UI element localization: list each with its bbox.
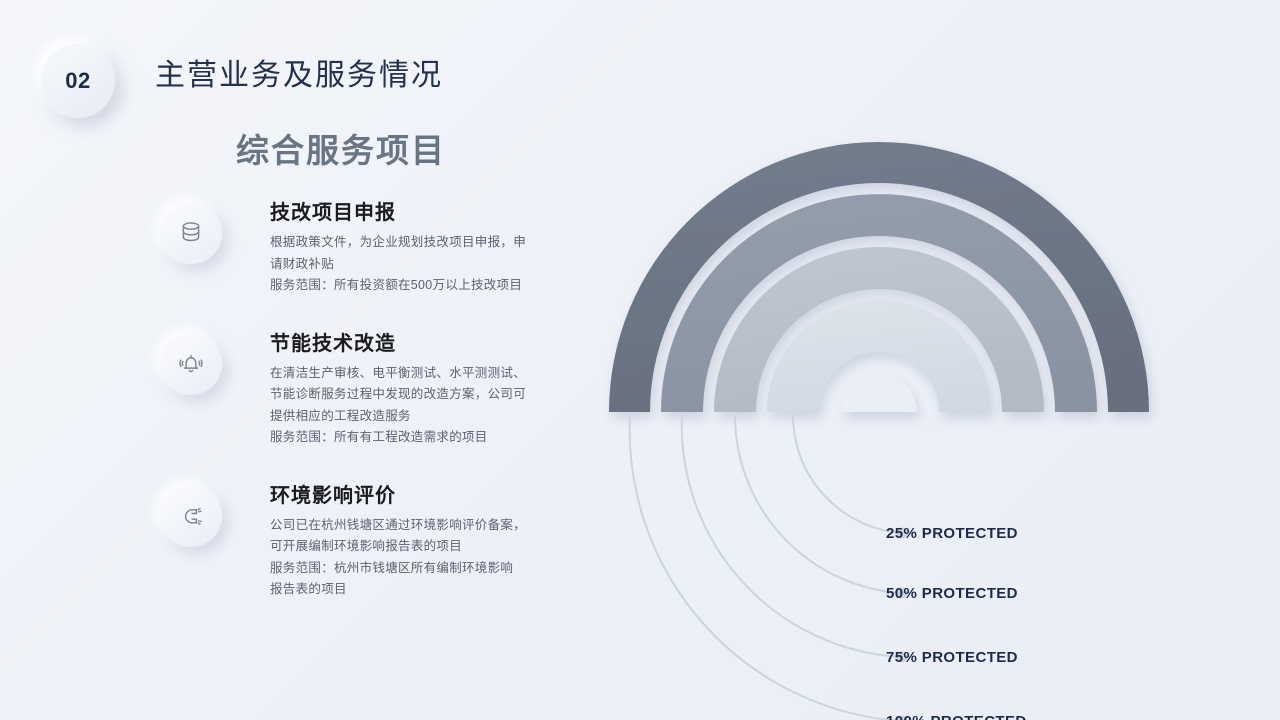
list-item-line: 服务范围：所有投资额在500万以上技改项目 [270,275,590,297]
list-item[interactable]: 环境影响评价 公司已在杭州钱塘区通过环境影响评价备案， 可开展编制环境影响报告表… [160,479,590,601]
service-items-list: 技改项目申报 根据政策文件，为企业规划技改项目申报，申 请财政补贴 服务范围：所… [160,196,590,631]
list-item-title: 技改项目申报 [270,196,590,225]
list-item[interactable]: 技改项目申报 根据政策文件，为企业规划技改项目申报，申 请财政补贴 服务范围：所… [160,196,590,297]
list-item-line: 在清洁生产审核、电平衡测试、水平测测试、 [270,363,590,385]
magnet-icon [160,485,222,547]
list-item-line: 根据政策文件，为企业规划技改项目申报，申 [270,232,590,254]
list-item-line: 服务范围：所有有工程改造需求的项目 [270,427,590,449]
leader-line-75 [682,416,901,657]
list-item-line: 提供相应的工程改造服务 [270,406,590,428]
database-icon [160,202,222,264]
section-number: 02 [65,68,90,94]
leader-dots [897,528,908,720]
legend-label-50: 50% PROTECTED [886,585,1018,602]
section-heading: 综合服务项目 [236,124,446,172]
list-item-text: 技改项目申报 根据政策文件，为企业规划技改项目申报，申 请财政补贴 服务范围：所… [270,196,590,297]
section-number-badge: 02 [41,44,115,118]
bell-ring-icon [160,333,222,395]
gauge-rings [609,142,1149,412]
ring-center-cap [841,374,917,412]
legend-label-25: 25% PROTECTED [886,525,1018,542]
list-item-line: 请财政补贴 [270,254,590,276]
list-item-line: 节能诊断服务过程中发现的改造方案，公司可 [270,384,590,406]
list-item[interactable]: 节能技术改造 在清洁生产审核、电平衡测试、水平测测试、 节能诊断服务过程中发现的… [160,327,590,449]
list-item-text: 节能技术改造 在清洁生产审核、电平衡测试、水平测测试、 节能诊断服务过程中发现的… [270,327,590,449]
leader-lines [630,416,901,720]
page-title: 主营业务及服务情况 [155,50,443,94]
list-item-line: 可开展编制环境影响报告表的项目 [270,536,590,558]
protection-gauge-chart: 25% PROTECTED 50% PROTECTED 75% PROTECTE… [590,120,1230,680]
leader-line-25 [793,416,901,533]
list-item-line: 报告表的项目 [270,579,590,601]
list-item-line: 服务范围：杭州市钱塘区所有编制环境影响 [270,558,590,580]
leader-line-100 [630,416,901,720]
legend-label-75: 75% PROTECTED [886,649,1018,666]
legend-label-100: 100% PROTECTED [886,713,1027,720]
list-item-title: 节能技术改造 [270,327,590,356]
list-item-title: 环境影响评价 [270,479,590,508]
leader-line-50 [735,416,901,593]
list-item-line: 公司已在杭州钱塘区通过环境影响评价备案， [270,515,590,537]
list-item-text: 环境影响评价 公司已在杭州钱塘区通过环境影响评价备案， 可开展编制环境影响报告表… [270,479,590,601]
